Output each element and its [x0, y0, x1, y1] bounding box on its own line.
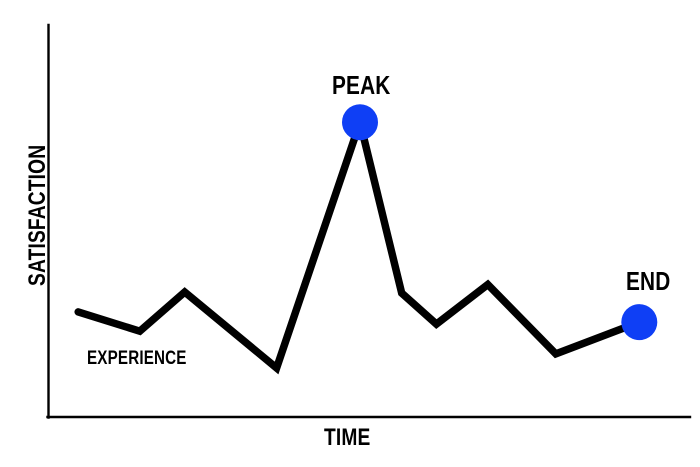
peak-marker-dot: [342, 104, 378, 140]
end-marker-dot: [621, 304, 657, 340]
x-axis-label: TIME: [324, 426, 371, 450]
experience-label: EXPERIENCE: [87, 349, 187, 368]
end-label: END: [626, 268, 670, 294]
peak-label: PEAK: [332, 72, 390, 98]
y-axis-label: SATISFACTION: [26, 158, 50, 286]
experience-line-series: [78, 122, 639, 368]
peak-end-rule-chart: PEAK END EXPERIENCE TIME SATISFACTION: [0, 0, 700, 467]
